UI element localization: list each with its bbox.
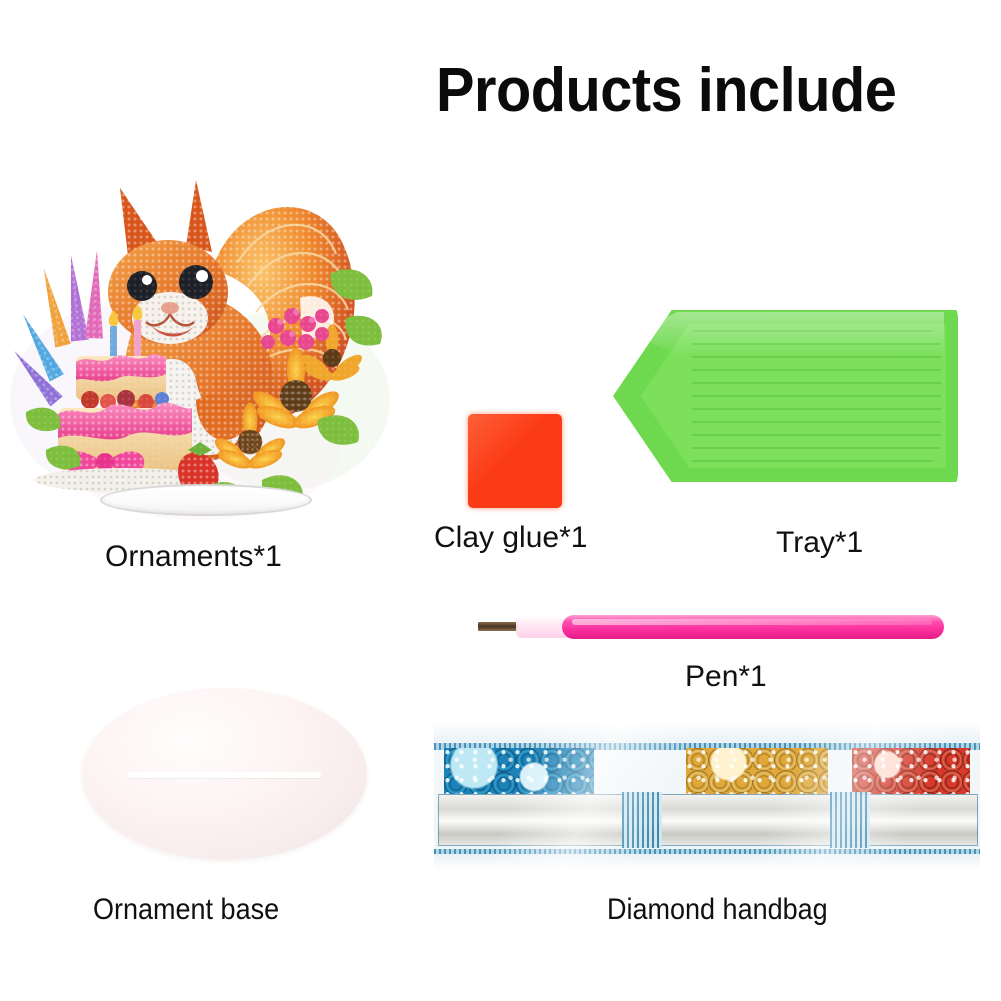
foil-label-1 [438, 794, 626, 846]
squirrel-ornament-artwork [0, 150, 400, 525]
pen-metal-tip [478, 622, 518, 631]
pouch-top-film [434, 722, 980, 742]
pen-product-image [470, 600, 952, 652]
blue-rhinestones [444, 748, 594, 796]
tray-highlight [634, 312, 945, 356]
ornament-acrylic-stand [100, 484, 312, 516]
ornament-base-slot [128, 772, 322, 778]
ornament-base-label: Ornament base [93, 895, 279, 925]
gold-rhinestones [686, 748, 828, 796]
pen-barrel [562, 615, 944, 639]
product-contents-image: Products include [0, 0, 1001, 1001]
clay-glue-label: Clay glue*1 [434, 523, 587, 553]
bag-seal-1 [622, 792, 662, 848]
tray-label: Tray*1 [776, 528, 863, 558]
tray-product-image [613, 296, 958, 496]
ornament-base-product-image [82, 688, 367, 860]
pouch-bottom-film [434, 854, 980, 870]
ornaments-label: Ornaments*1 [105, 542, 282, 572]
diamond-handbag-label: Diamond handbag [607, 895, 828, 925]
pen-label: Pen*1 [685, 662, 767, 692]
red-rhinestones [852, 748, 970, 796]
clay-glue-product-image [468, 414, 562, 508]
ornaments-product-image [0, 150, 400, 525]
foil-label-2 [636, 794, 834, 846]
bag-seal-2 [830, 792, 870, 848]
page-title: Products include [436, 60, 966, 122]
diamond-handbag-product-image [434, 722, 980, 870]
